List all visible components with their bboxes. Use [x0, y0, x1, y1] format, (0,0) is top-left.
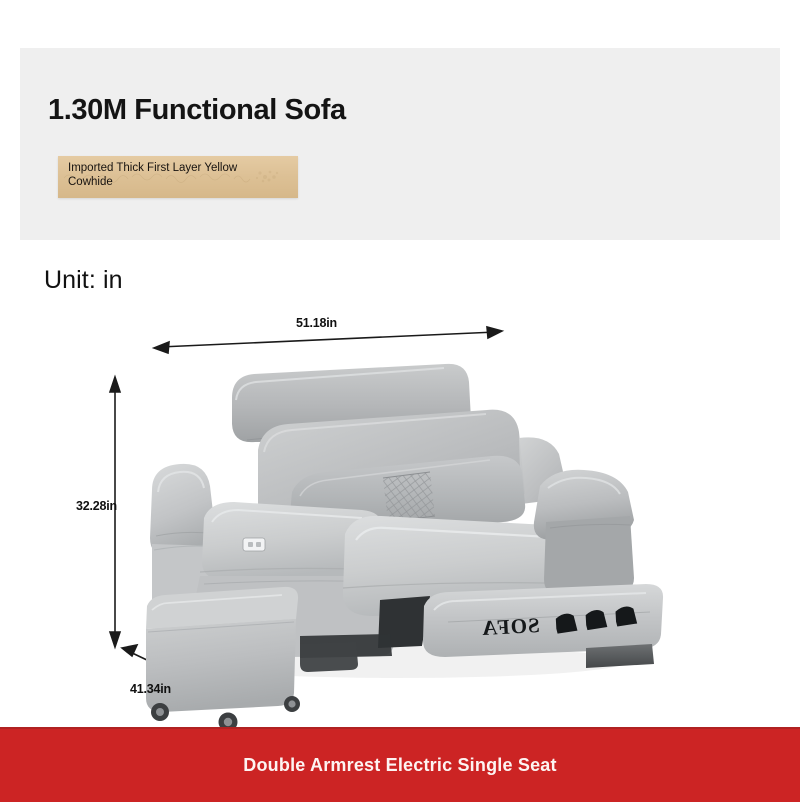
header-band: 1.30M Functional Sofa Import: [20, 48, 780, 240]
ottoman: [146, 587, 300, 732]
bottom-banner: Double Armrest Electric Single Seat: [0, 727, 800, 802]
product-spec-page: 1.30M Functional Sofa Import: [0, 0, 800, 800]
product-diagram: SOFA: [0, 300, 800, 720]
dimension-label-width: 51.18in: [296, 316, 337, 330]
footrest-base-bar: [586, 644, 654, 668]
page-title: 1.30M Functional Sofa: [48, 94, 346, 127]
dimension-label-depth: 41.34in: [130, 682, 171, 696]
footrest-brand-text: SOFA: [481, 613, 541, 640]
dimension-line-width: [154, 327, 502, 353]
material-badge: Imported Thick First Layer Yellow Cowhid…: [58, 156, 298, 198]
sofa-graphic: SOFA: [146, 364, 663, 732]
unit-label: Unit: in: [44, 266, 123, 295]
sofa-illustration: SOFA: [0, 300, 800, 720]
dimension-label-height: 32.28in: [76, 499, 117, 513]
sofa-armrest-right: [534, 470, 634, 595]
material-badge-label: Imported Thick First Layer Yellow Cowhid…: [68, 161, 276, 189]
bottom-banner-label: Double Armrest Electric Single Seat: [0, 729, 800, 802]
recliner-control-button: [243, 538, 265, 551]
sofa-base-feet: [300, 642, 358, 672]
